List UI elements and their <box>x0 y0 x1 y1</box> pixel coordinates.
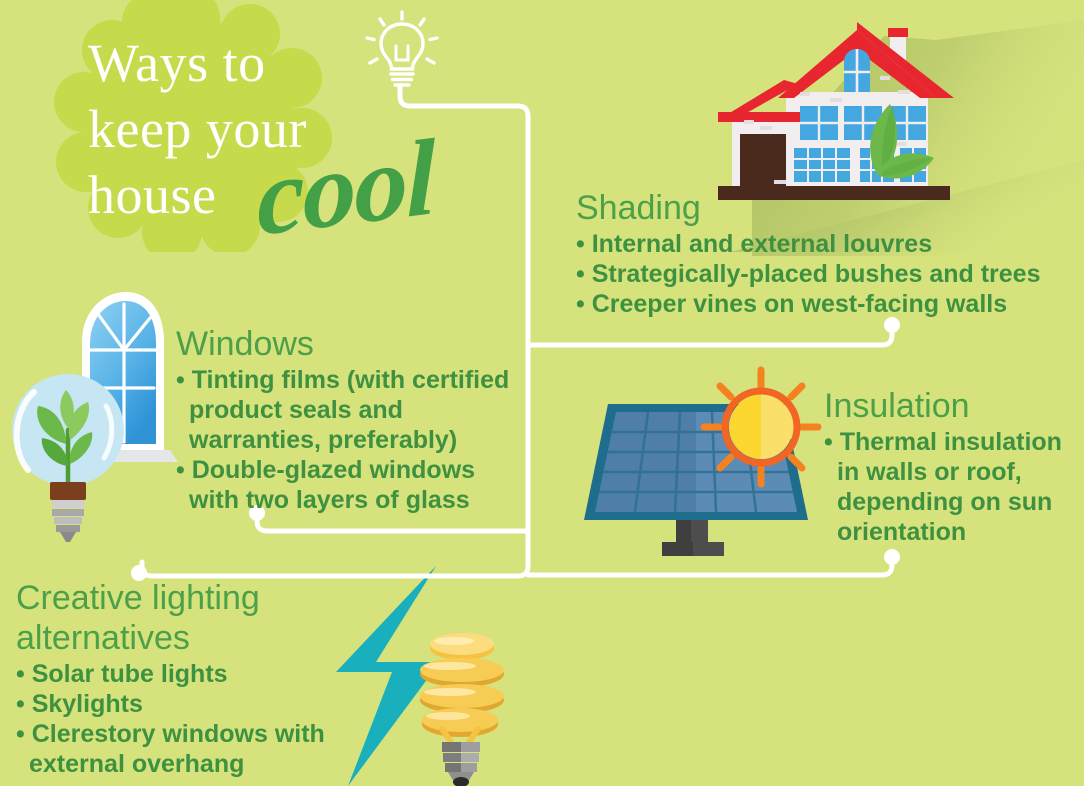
section-bullets-creative-lighting: Solar tube lights Skylights Clerestory w… <box>16 659 346 779</box>
section-windows: Windows Tinting films (with certified pr… <box>176 324 524 515</box>
bullet-item: Internal and external louvres <box>576 229 1046 259</box>
bullet-item: Skylights <box>16 689 346 719</box>
lightbulb-outline-icon <box>360 8 444 94</box>
section-bullets-shading: Internal and external louvres Strategica… <box>576 229 1046 319</box>
bullet-item: Creeper vines on west-facing walls <box>576 289 1046 319</box>
plant-in-bulb-icon <box>8 368 128 544</box>
section-bullets-insulation: Thermal insulation in walls or roof, dep… <box>824 427 1082 547</box>
section-heading-insulation: Insulation <box>824 386 1082 426</box>
sun-icon <box>700 366 822 488</box>
title-script-word: cool <box>256 124 435 254</box>
section-heading-shading: Shading <box>576 188 1046 228</box>
cfl-bulb-icon <box>404 632 514 786</box>
section-heading-windows: Windows <box>176 324 524 364</box>
section-bullets-windows: Tinting films (with certified product se… <box>176 365 524 515</box>
bullet-item: Solar tube lights <box>16 659 346 689</box>
title-line-1: Ways to <box>88 30 508 96</box>
section-heading-creative-lighting: Creative lighting alternatives <box>16 578 346 658</box>
bullet-item: Clerestory windows with external overhan… <box>16 719 346 779</box>
infographic-canvas: Ways to keep your house cool <box>0 0 1084 786</box>
bullet-item: Tinting films (with certified product se… <box>176 365 524 455</box>
bullet-item: Double-glazed windows with two layers of… <box>176 455 524 515</box>
bullet-item: Strategically-placed bushes and trees <box>576 259 1046 289</box>
section-insulation: Insulation Thermal insulation in walls o… <box>824 386 1082 547</box>
connector-dot-insulation <box>884 549 900 565</box>
section-creative-lighting: Creative lighting alternatives Solar tub… <box>16 578 346 779</box>
section-shading: Shading Internal and external louvres St… <box>576 188 1046 319</box>
leaf-icon <box>852 100 938 188</box>
bullet-item: Thermal insulation in walls or roof, dep… <box>824 427 1082 547</box>
